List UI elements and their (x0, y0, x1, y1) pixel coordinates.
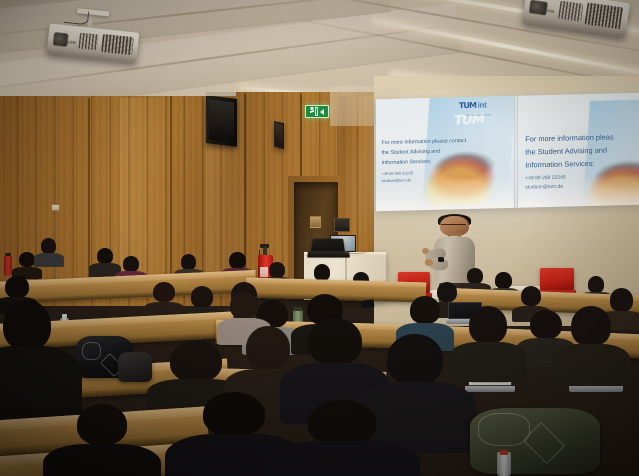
presenter-laptop[interactable] (311, 239, 345, 252)
audience-person (92, 248, 118, 276)
slide-right: For more information pleas the Student A… (518, 93, 639, 208)
emergency-exit-icon (305, 105, 329, 118)
slide-left-line3: Information Services: (382, 157, 468, 169)
wall-speaker (206, 95, 237, 147)
water-bottle (4, 256, 12, 276)
slide-left: TUM For more information please contact … (376, 96, 514, 211)
presenter-hand-left (425, 259, 432, 266)
audience-person (36, 238, 61, 266)
audience-person (286, 400, 398, 476)
slide-right-text: For more information pleas the Student A… (525, 131, 639, 192)
water-bottle (497, 452, 511, 476)
audience-person (0, 300, 64, 420)
lectern-cable (344, 248, 368, 254)
audience-person (60, 404, 144, 476)
slide-right-line3: Information Services: (525, 157, 639, 173)
smartphone[interactable] (361, 299, 374, 309)
backpack (470, 408, 600, 474)
audience-person (562, 306, 620, 380)
int-wordmark: int (478, 101, 487, 110)
slide-left-text: For more information please contact the … (382, 137, 468, 184)
audience-person (148, 282, 180, 316)
presenter-clicker (438, 257, 444, 262)
light-switch[interactable] (51, 204, 60, 211)
wall-speaker-secondary (274, 121, 284, 149)
backpack (118, 352, 152, 382)
lectern-wall-panel (334, 218, 350, 232)
projection-screen: TUM For more information please contact … (376, 93, 639, 211)
glasses-icon (441, 224, 466, 227)
lecture-hall-scene: EPSON EPSON (0, 0, 639, 476)
lectern-wall-panel-2 (310, 216, 321, 228)
tum-wordmark: TUM (459, 101, 476, 110)
tum-int-logo: TUM int (459, 101, 487, 111)
audience-person (460, 306, 516, 376)
